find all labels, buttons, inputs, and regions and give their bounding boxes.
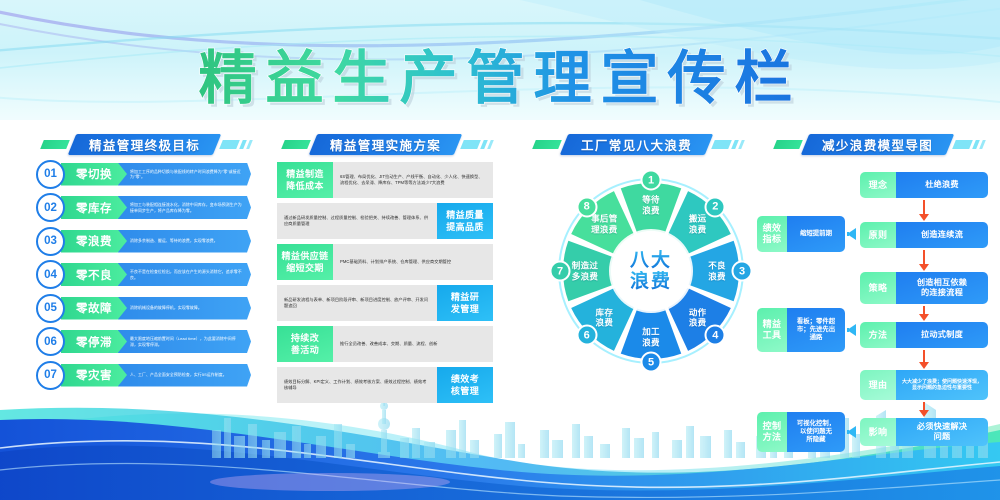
model-side-box[interactable]: 绩效指标缩短提前期 (757, 216, 845, 252)
model-chain-box[interactable]: 原则创造连续流 (860, 222, 988, 248)
model-chain-value: 拉动式制度 (896, 322, 988, 348)
goal-title-chevron: 零库存 (61, 196, 127, 219)
goal-title-chevron: 零不良 (61, 263, 127, 286)
header-wastes: 工厂常见八大浪费 (534, 133, 746, 155)
model-chain-value: 创造连续流 (896, 222, 988, 248)
header-tail (462, 140, 495, 149)
goal-description-chevron: 将加工工序的品种切换与装配线的转产时间浪费降为"零"或接近为"零"。 (118, 163, 251, 186)
eight-wastes-wheel: 八大浪费 等待 浪费1搬运 浪费2不良 浪费3动作 浪费4加工 浪费5库存 浪费… (520, 160, 770, 395)
wheel-segment-label: 库存 浪费 (596, 307, 614, 328)
model-map: 理念杜绝浪费原则创造连续流策略创造相互依赖 的连接流程方法拉动式制度理由大大减少… (757, 160, 997, 400)
down-arrow-icon (919, 264, 929, 271)
svg-text:精益生产管理宣传栏: 精益生产管理宣传栏 (198, 44, 801, 112)
model-chain-box[interactable]: 理由大大减少了浪费；使问题快速浮现，显示问题的急迫性与重要性 (860, 370, 988, 400)
plan-tag: 持续改善活动 (277, 326, 333, 362)
down-arrow-icon (919, 410, 929, 417)
wheel: 八大浪费 等待 浪费1搬运 浪费2不良 浪费3动作 浪费4加工 浪费5库存 浪费… (558, 178, 744, 364)
model-side-box[interactable]: 控制方法可视化控制， 以使问题无 所隐藏 (757, 412, 845, 452)
plan-row: 通过新品研发质量控制、过程质量控制、检验把关、持续改善、管理体系、供应商质量管理… (277, 203, 493, 239)
wheel-segment-number: 8 (576, 196, 597, 217)
plan-text: 绩效目标分解、KPI定义、工作计划、绩效考核方案、绩效过程控制、绩效考核辅导 (277, 367, 437, 403)
model-side-value: 看板；零件超 市；先进先出 通路 (787, 308, 845, 352)
header-model-label: 减少浪费模型导图 (822, 135, 933, 154)
model-chain-label: 方法 (860, 322, 896, 348)
wheel-segment-number: 7 (550, 261, 571, 282)
header-tail (954, 140, 987, 149)
left-arrow-icon (847, 324, 856, 336)
model-chain-label: 影响 (860, 418, 896, 446)
goal-description-chevron: 不良不是在检查位检出，而应该在产生的源头消除它，追求零不良。 (118, 263, 251, 286)
plan-list: 精益制造降低成本6S管理、布局优化、JIT拉动生产、产线平衡、自动化、少人化、快… (277, 162, 493, 408)
model-chain-value: 必须快速解决 问题 (896, 418, 988, 446)
plan-tag: 精益质量提高品质 (437, 203, 493, 239)
header-accent-bar (532, 140, 562, 149)
plan-text: 新品研发流程与表单、新项目阶段评审、新项目进度控制、放产评审、开发问题追回 (277, 285, 437, 321)
plan-row: 精益供应链缩短交期PMC基础资料、计划排产系统、仓库管理、供应商交期管控 (277, 244, 493, 280)
goal-description-chevron: 最大限度地压缩前置时间（Lead time），为此要消除中间停滞，实现零停滞。 (118, 330, 251, 353)
model-chain-label: 理念 (860, 172, 896, 198)
model-chain-box[interactable]: 影响必须快速解决 问题 (860, 418, 988, 446)
wheel-center-label: 八大浪费 (612, 232, 690, 310)
header-plan: 精益管理实施方案 (283, 133, 495, 155)
goal-title-chevron: 零浪费 (61, 230, 127, 253)
header-goals-label: 精益管理终极目标 (89, 135, 200, 154)
header-goals: 精益管理终极目标 (42, 133, 254, 155)
model-side-label: 绩效指标 (757, 216, 787, 252)
plan-text: 6S管理、布局优化、JIT拉动生产、产线平衡、自动化、少人化、快速换型、流程优化… (333, 162, 493, 198)
poster-title: 精益生产管理宣传栏 精益生产管理宣传栏 (0, 46, 1000, 117)
plan-text: 推行全员改善、改善成本、交期、质量、流程、创新 (333, 326, 493, 362)
goal-row: 07零灾害人、工厂、产品全面安全预防检查，实行5S运作制度。 (36, 361, 251, 389)
header-model: 减少浪费模型导图 (775, 133, 987, 155)
model-side-label: 控制方法 (757, 412, 787, 452)
left-arrow-icon (847, 228, 856, 240)
goal-number-badge: 02 (36, 193, 65, 222)
model-chain-label: 策略 (860, 272, 896, 304)
header-plan-label: 精益管理实施方案 (330, 135, 441, 154)
model-chain-value: 杜绝浪费 (896, 172, 988, 198)
goal-row: 03零浪费消除多余制造、搬运、等待的浪费，实现零浪费。 (36, 227, 251, 255)
model-chain-value: 大大减少了浪费；使问题快速浮现，显示问题的急迫性与重要性 (896, 370, 988, 400)
header-tail (713, 140, 746, 149)
goal-description-chevron: 消除机械设备的故障停机，实现零故障。 (118, 297, 251, 320)
wheel-segment-label: 加工 浪费 (642, 327, 660, 348)
model-side-value: 可视化控制， 以使问题无 所隐藏 (787, 412, 845, 452)
wheel-segment-number: 6 (576, 325, 597, 346)
down-arrow-stem (923, 200, 926, 215)
goal-title-chevron: 零故障 (61, 297, 127, 320)
goal-row: 02零库存将加工与装配相连接流水化，消除中间库存，变市场预测生产为接单同步生产，… (36, 194, 251, 222)
plan-tag: 精益供应链缩短交期 (277, 244, 333, 280)
plan-row: 绩效目标分解、KPI定义、工作计划、绩效考核方案、绩效过程控制、绩效考核辅导绩效… (277, 367, 493, 403)
model-chain-label: 原则 (860, 222, 896, 248)
header-wastes-label: 工厂常见八大浪费 (581, 135, 692, 154)
plan-tag: 精益制造降低成本 (277, 162, 333, 198)
goal-title-chevron: 零停滞 (61, 330, 127, 353)
goal-row: 06零停滞最大限度地压缩前置时间（Lead time），为此要消除中间停滞，实现… (36, 328, 251, 356)
goal-description-chevron: 消除多余制造、搬运、等待的浪费，实现零浪费。 (118, 230, 251, 253)
down-arrow-icon (919, 214, 929, 221)
wheel-segment-label: 动作 浪费 (689, 307, 707, 328)
plan-row: 持续改善活动推行全员改善、改善成本、交期、质量、流程、创新 (277, 326, 493, 362)
header-accent-bar (40, 140, 70, 149)
down-arrow-icon (919, 362, 929, 369)
goal-number-badge: 07 (36, 361, 65, 390)
goal-number-badge: 05 (36, 294, 65, 323)
model-chain-value: 创造相互依赖 的连接流程 (896, 272, 988, 304)
plan-text: 通过新品研发质量控制、过程质量控制、检验把关、持续改善、管理体系、供应商质量管理 (277, 203, 437, 239)
plan-tag: 绩效考核管理 (437, 367, 493, 403)
goal-title-chevron: 零切换 (61, 163, 127, 186)
model-chain-box[interactable]: 方法拉动式制度 (860, 322, 988, 348)
wheel-segment-number: 1 (641, 170, 662, 191)
goal-row: 04零不良不良不是在检查位检出，而应该在产生的源头消除它，追求零不良。 (36, 261, 251, 289)
down-arrow-icon (919, 314, 929, 321)
plan-row: 新品研发流程与表单、新项目阶段评审、新项目进度控制、放产评审、开发问题追回精益研… (277, 285, 493, 321)
goal-number-badge: 03 (36, 227, 65, 256)
model-side-box[interactable]: 精益工具看板；零件超 市；先进先出 通路 (757, 308, 845, 352)
header-tail (221, 140, 254, 149)
model-chain-box[interactable]: 理念杜绝浪费 (860, 172, 988, 198)
wheel-segment-number: 5 (641, 352, 662, 373)
wheel-segment-number: 2 (705, 196, 726, 217)
model-chain-label: 理由 (860, 370, 896, 400)
goal-row: 05零故障消除机械设备的故障停机，实现零故障。 (36, 294, 251, 322)
model-side-label: 精益工具 (757, 308, 787, 352)
plan-tag: 精益研发管理 (437, 285, 493, 321)
header-accent-bar (773, 140, 803, 149)
wheel-segment-label: 等待 浪费 (642, 195, 660, 216)
goal-title-chevron: 零灾害 (61, 364, 127, 387)
goal-number-badge: 04 (36, 260, 65, 289)
goal-number-badge: 01 (36, 160, 65, 189)
goal-number-badge: 06 (36, 327, 65, 356)
header-accent-bar (281, 140, 311, 149)
down-arrow-stem (923, 250, 926, 265)
poster-canvas: 精益生产管理宣传栏 精益生产管理宣传栏 精益管理终极目标 精益管理实施方案 工厂… (0, 0, 1000, 500)
plan-row: 精益制造降低成本6S管理、布局优化、JIT拉动生产、产线平衡、自动化、少人化、快… (277, 162, 493, 198)
model-chain-box[interactable]: 策略创造相互依赖 的连接流程 (860, 272, 988, 304)
wheel-segment-number: 3 (732, 261, 753, 282)
plan-text: PMC基础资料、计划排产系统、仓库管理、供应商交期管控 (333, 244, 493, 280)
wheel-segment-label: 搬运 浪费 (689, 214, 707, 235)
left-arrow-icon (847, 426, 856, 438)
wheel-segment-label: 事后管 理浪费 (591, 214, 617, 235)
goal-row: 01零切换将加工工序的品种切换与装配线的转产时间浪费降为"零"或接近为"零"。 (36, 160, 251, 188)
wheel-segment-label: 不良 浪费 (708, 261, 726, 282)
goals-list: 01零切换将加工工序的品种切换与装配线的转产时间浪费降为"零"或接近为"零"。0… (36, 160, 251, 395)
wheel-segment-number: 4 (705, 325, 726, 346)
goal-description-chevron: 人、工厂、产品全面安全预防检查，实行5S运作制度。 (118, 364, 251, 387)
goal-description-chevron: 将加工与装配相连接流水化，消除中间库存，变市场预测生产为接单同步生产，将产品库存… (118, 196, 251, 219)
model-side-value: 缩短提前期 (787, 216, 845, 252)
wheel-segment-label: 制造过 多浪费 (572, 261, 598, 282)
